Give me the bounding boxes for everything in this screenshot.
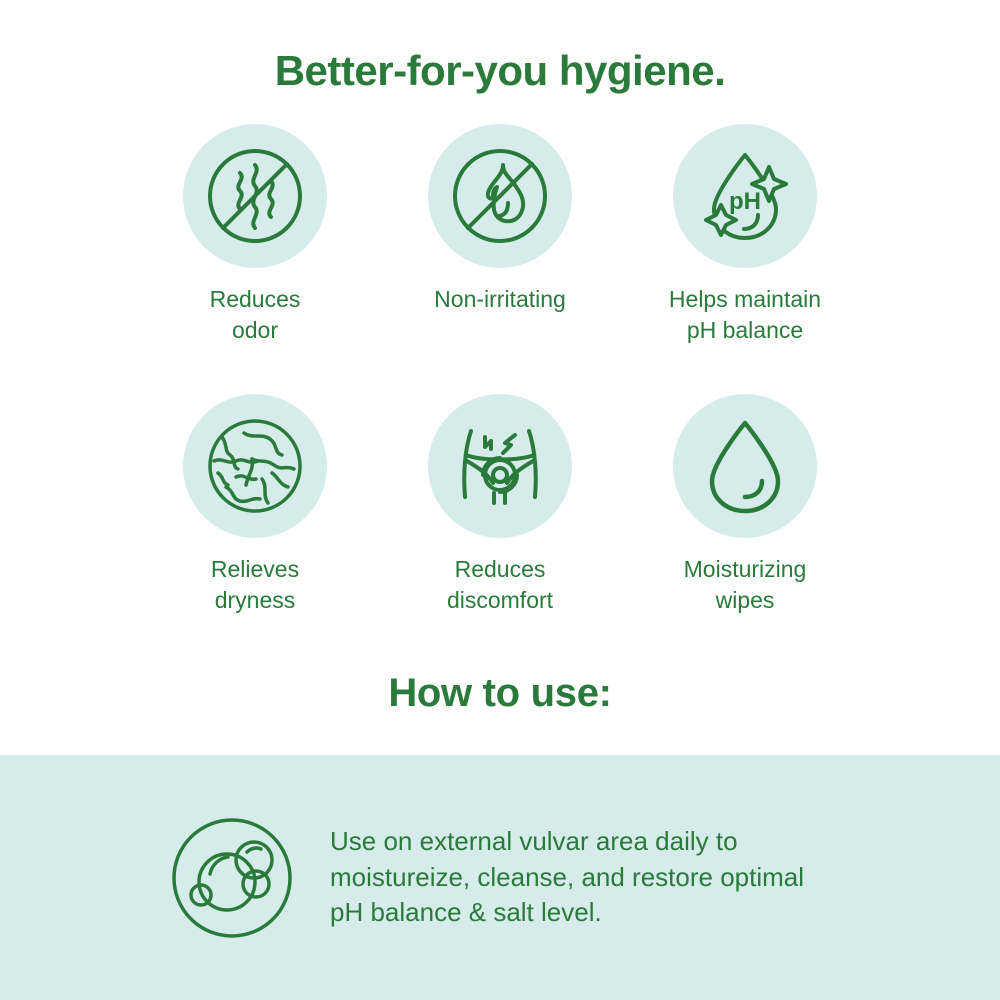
benefit-label: Reduces odor: [210, 284, 301, 346]
benefit-row: Reduces odor Non-irritating: [150, 124, 850, 346]
pelvic-discomfort-icon: [428, 394, 572, 538]
ph-icon-text: pH: [729, 188, 761, 215]
benefit-ph-balance: pH Helps maintain pH balance: [640, 124, 850, 346]
benefit-label: Non-irritating: [434, 284, 566, 315]
benefit-label: Reduces discomfort: [447, 554, 553, 616]
how-to-use-instruction: Use on external vulvar area daily to moi…: [330, 824, 830, 932]
benefit-reduces-discomfort: Reduces discomfort: [395, 394, 605, 616]
benefits-grid: Reduces odor Non-irritating: [0, 124, 1000, 616]
how-to-use-band: Use on external vulvar area daily to moi…: [0, 755, 1000, 1000]
benefit-label: Moisturizing wipes: [684, 554, 807, 616]
ph-droplet-sparkle-icon: pH: [673, 124, 817, 268]
cleansing-bubbles-icon: [170, 816, 294, 940]
benefit-label: Helps maintain pH balance: [669, 284, 821, 346]
benefit-label: Relieves dryness: [211, 554, 299, 616]
no-flame-icon: [428, 124, 572, 268]
infographic-page: Better-for-you hygiene. Reduces odor: [0, 0, 1000, 1000]
water-droplet-icon: [673, 394, 817, 538]
benefit-non-irritating: Non-irritating: [395, 124, 605, 315]
benefit-reduces-odor: Reduces odor: [150, 124, 360, 346]
no-odor-icon: [183, 124, 327, 268]
how-to-use-heading: How to use:: [0, 671, 1000, 716]
page-title: Better-for-you hygiene.: [0, 48, 1000, 94]
benefit-relieves-dryness: Relieves dryness: [150, 394, 360, 616]
benefit-row: Relieves dryness: [150, 394, 850, 616]
dry-cracked-skin-icon: [183, 394, 327, 538]
benefit-moisturizing-wipes: Moisturizing wipes: [640, 394, 850, 616]
